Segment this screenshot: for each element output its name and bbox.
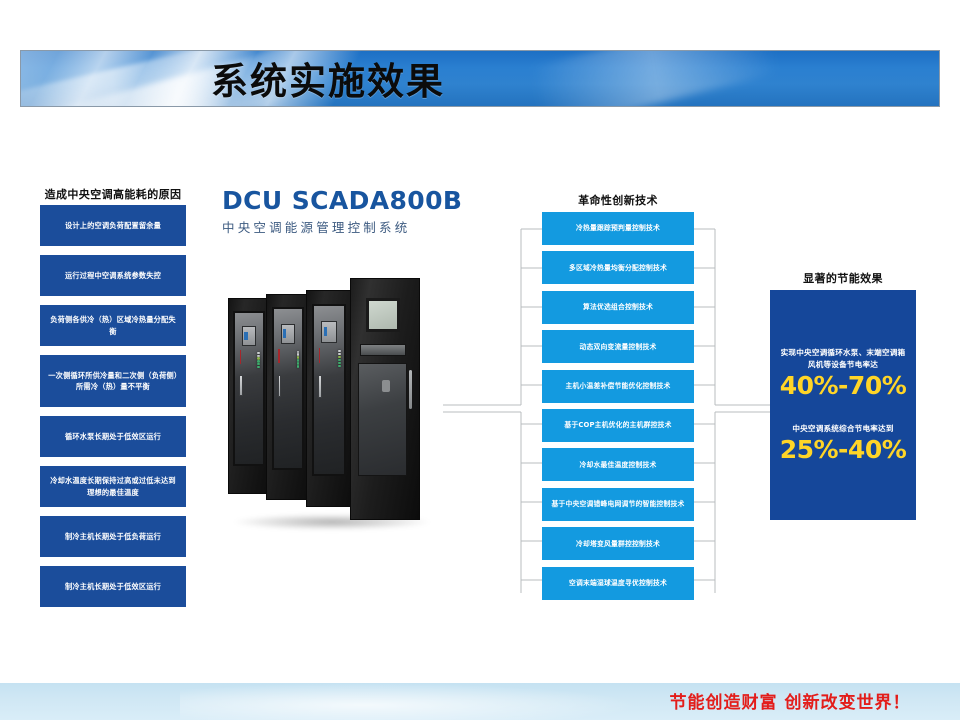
technologies-list: 冷热量跟踪预判量控制技术 多区域冷热量均衡分配控制技术 算法优选组合控制技术 动… [542, 212, 694, 606]
cabinet-switch [318, 375, 322, 399]
tech-box: 主机小温差补偿节能优化控制技术 [542, 370, 694, 403]
cause-box: 设计上的空调负荷配置留余量 [40, 205, 186, 246]
cause-box: 一次侧循环所供冷量和二次侧（负荷侧）所需冷（热）量不平衡 [40, 355, 186, 407]
cabinet-control-panel [321, 321, 337, 343]
tech-box: 基于中央空调错峰电网调节的智能控制技术 [542, 488, 694, 521]
cabinet-control-panel [281, 324, 296, 345]
cabinet-indicator-red [319, 348, 321, 363]
result-value: 25%-40% [780, 437, 907, 463]
tech-box: 动态双向变流量控制技术 [542, 330, 694, 363]
cause-box: 制冷主机长期处于低负荷运行 [40, 516, 186, 557]
cabinet-display-screen [366, 298, 400, 332]
tech-box: 算法优选组合控制技术 [542, 291, 694, 324]
cause-box: 制冷主机长期处于低效区运行 [40, 566, 186, 607]
tech-box: 多区域冷热量均衡分配控制技术 [542, 251, 694, 284]
cabinet-indicator-red [278, 349, 280, 363]
cause-box: 循环水泵长期处于低效区运行 [40, 416, 186, 457]
cloud-wisp-icon [531, 50, 779, 107]
control-cabinet [266, 294, 310, 500]
cause-box: 冷却水温度长期保持过高或过低未达到理想的最佳温度 [40, 466, 186, 507]
results-panel: 实现中央空调循环水泵、末端空调箱风机等设备节电率达 40%-70% 中央空调系统… [770, 290, 916, 520]
control-cabinet [306, 290, 352, 507]
page-title: 系统实施效果 [211, 50, 445, 104]
cabinet-knob [382, 380, 389, 392]
tech-box: 空调末端湿球温度寻优控制技术 [542, 567, 694, 600]
result-text: 中央空调系统综合节电率达到 [792, 423, 893, 436]
brand-subtitle: 中央空调能源管理控制系统 [222, 217, 472, 236]
cabinet-led-strip [338, 350, 341, 427]
cabinet-indicator-red [240, 350, 242, 364]
cabinet-handle [409, 370, 412, 408]
control-cabinet [228, 298, 270, 494]
cabinet-switch [239, 375, 242, 396]
product-photo [228, 268, 443, 528]
title-banner: 系统实施效果 [20, 50, 940, 107]
tech-box: 冷却水最佳温度控制技术 [542, 448, 694, 481]
result-value: 40%-70% [780, 373, 907, 399]
causes-list: 设计上的空调负荷配置留余量 运行过程中空调系统参数失控 负荷侧各供冷（热）区域冷… [40, 205, 186, 616]
result-text: 实现中央空调循环水泵、末端空调箱风机等设备节电率达 [778, 347, 908, 372]
cabinet-control-panel [242, 326, 256, 346]
cabinet-vent-slot [360, 344, 406, 356]
brand-name: DCU SCADA800B [222, 186, 472, 215]
tech-box: 冷却塔变风量群控控制技术 [542, 527, 694, 560]
technologies-heading: 革命性创新技术 [542, 192, 694, 208]
cause-box: 负荷侧各供冷（热）区域冷热量分配失衡 [40, 305, 186, 346]
presentation-slide: 系统实施效果 造成中央空调高能耗的原因 设计上的空调负荷配置留余量 运行过程中空… [0, 0, 960, 720]
tech-box: 冷热量跟踪预判量控制技术 [542, 212, 694, 245]
causes-heading: 造成中央空调高能耗的原因 [40, 186, 186, 202]
cabinet-glass-door [233, 311, 264, 466]
cabinet-glass-door [312, 304, 346, 476]
footer-slogan: 节能创造财富 创新改变世界！ [640, 688, 940, 713]
control-cabinet-main [350, 278, 420, 520]
cause-box: 运行过程中空调系统参数失控 [40, 255, 186, 296]
tech-box: 基于COP主机优化的主机群控技术 [542, 409, 694, 442]
cabinet-led-strip [297, 351, 300, 424]
cabinet-glass-door [272, 307, 305, 470]
results-heading: 显著的节能效果 [770, 270, 916, 286]
cabinet-led-strip [257, 352, 259, 422]
product-brand: DCU SCADA800B 中央空调能源管理控制系统 [222, 186, 472, 236]
cabinet-switch [278, 375, 281, 397]
